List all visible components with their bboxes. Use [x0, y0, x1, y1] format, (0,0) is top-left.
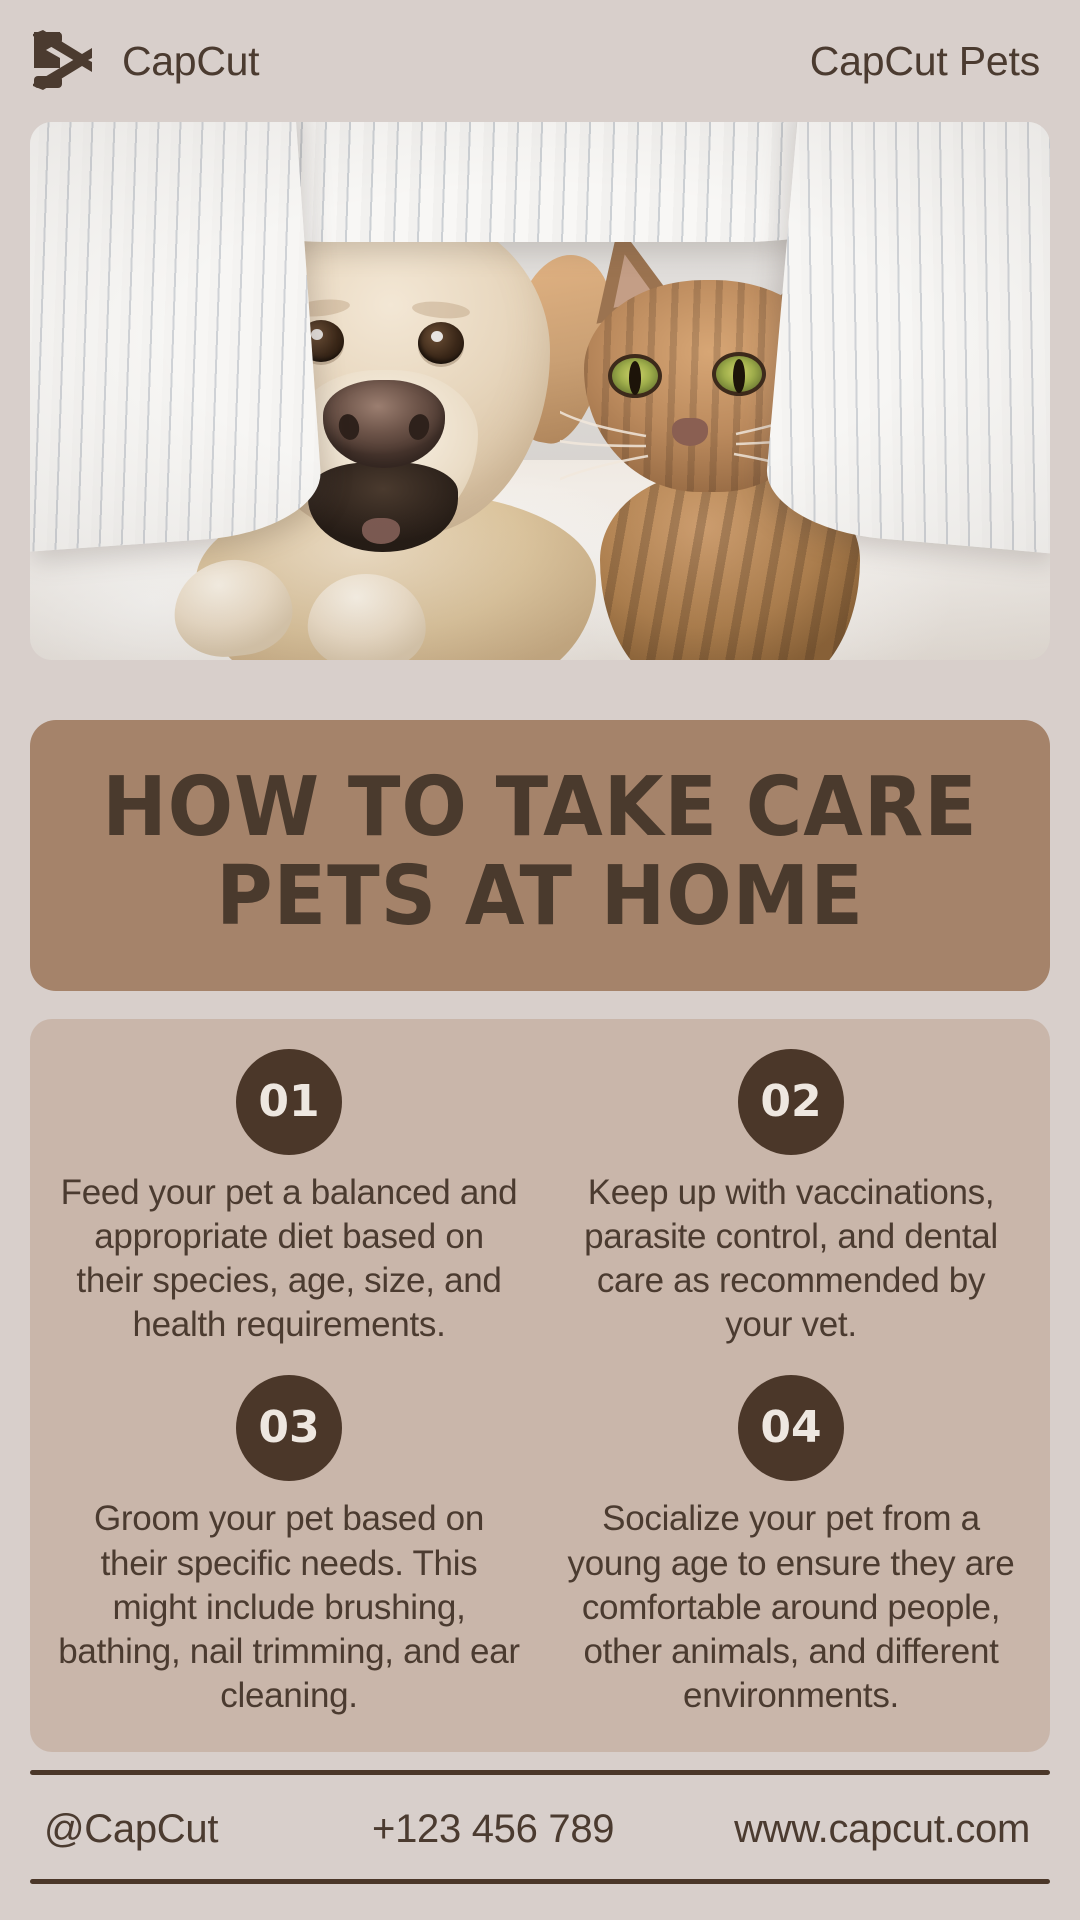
title-banner: HOW TO TAKE CARE PETS AT HOME: [30, 720, 1050, 991]
infographic-page: CapCut CapCut Pets: [0, 0, 1080, 1920]
footer-phone[interactable]: +123 456 789: [372, 1809, 614, 1849]
cat-eye-left: [608, 354, 662, 398]
header-right-label: CapCut Pets: [810, 41, 1040, 82]
tip-number-badge: 03: [236, 1375, 342, 1481]
dog-eye-right: [418, 322, 464, 364]
hero-photo-image: [30, 122, 1050, 660]
tip-text: Feed your pet a balanced and appropriate…: [58, 1171, 520, 1347]
page-footer: @CapCut +123 456 789 www.capcut.com: [30, 1770, 1050, 1884]
page-title-line-1: HOW TO TAKE CARE: [98, 764, 982, 853]
blanket-left-drape: [30, 122, 325, 552]
cat-eye-right: [712, 352, 766, 396]
footer-divider-bottom: [30, 1879, 1050, 1884]
tip-number-badge: 01: [236, 1049, 342, 1155]
tips-panel: 01 Feed your pet a balanced and appropri…: [30, 1019, 1050, 1752]
brand-lockup: CapCut: [30, 28, 259, 94]
page-title-line-2: PETS AT HOME: [98, 853, 982, 942]
dog-tongue: [362, 518, 400, 544]
blanket-right-drape: [762, 122, 1050, 554]
tip-number: 03: [258, 1406, 319, 1450]
dog-nostril-right: [406, 412, 432, 442]
dog-nostril-left: [336, 412, 362, 442]
tip-text: Socialize your pet from a young age to e…: [560, 1497, 1022, 1717]
tip-number: 01: [258, 1080, 319, 1124]
footer-contact-row: @CapCut +123 456 789 www.capcut.com: [30, 1775, 1050, 1879]
tip-text: Keep up with vaccinations, parasite cont…: [560, 1171, 1022, 1347]
page-header: CapCut CapCut Pets: [0, 0, 1080, 122]
tip-card: 02 Keep up with vaccinations, parasite c…: [546, 1049, 1036, 1347]
tip-number-badge: 02: [738, 1049, 844, 1155]
footer-social-handle[interactable]: @CapCut: [44, 1809, 218, 1849]
tip-card: 01 Feed your pet a balanced and appropri…: [44, 1049, 534, 1347]
tip-number: 04: [760, 1406, 821, 1450]
cat-nose: [672, 418, 708, 446]
brand-name: CapCut: [122, 41, 259, 82]
tip-text: Groom your pet based on their specific n…: [58, 1497, 520, 1717]
footer-website[interactable]: www.capcut.com: [734, 1809, 1030, 1849]
tip-card: 04 Socialize your pet from a young age t…: [546, 1375, 1036, 1717]
hero-photo: [30, 122, 1050, 660]
tip-number-badge: 04: [738, 1375, 844, 1481]
tip-number: 02: [760, 1080, 821, 1124]
tip-card: 03 Groom your pet based on their specifi…: [44, 1375, 534, 1717]
capcut-logo-icon: [30, 28, 104, 94]
